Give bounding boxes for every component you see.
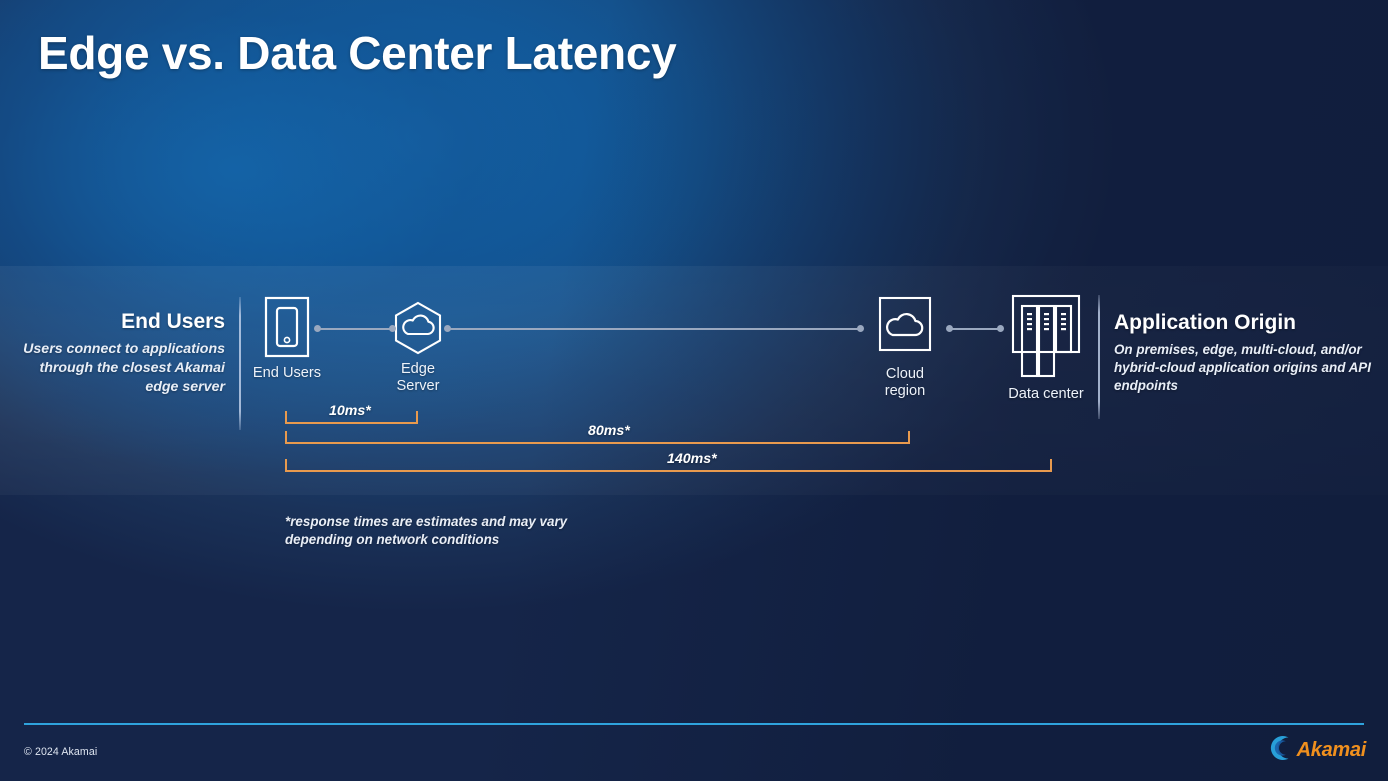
node-data-center-label: Data center <box>988 386 1104 403</box>
bracket-bar <box>285 442 910 444</box>
connector-dot-right <box>857 325 864 332</box>
bracket-tick-right <box>1050 459 1052 472</box>
connector-line <box>448 328 860 330</box>
footnote-line-1: *response times are estimates and may va… <box>285 513 567 531</box>
latency-bracket-edge: 10ms* <box>285 405 418 424</box>
connector-dot-right <box>389 325 396 332</box>
latency-label-edge: 10ms* <box>329 403 371 419</box>
connector-line <box>950 328 1000 330</box>
server-rack-icon <box>988 294 1104 382</box>
application-origin-heading: Application Origin <box>1114 311 1376 334</box>
bracket-bar <box>285 422 418 424</box>
footer-divider <box>24 723 1364 725</box>
node-edge-server-label: Edge Server <box>362 361 474 395</box>
connector-cloud-to-data-center <box>946 324 1004 333</box>
cloud-icon <box>848 296 962 358</box>
edge-server-label-line2: Server <box>397 378 440 394</box>
connector-line <box>318 328 392 330</box>
akamai-swoosh-icon <box>1269 735 1295 766</box>
application-origin-panel: Application Origin On premises, edge, mu… <box>1114 311 1376 395</box>
akamai-logo: Akamai <box>1269 735 1366 766</box>
connector-end-users-to-edge <box>314 324 396 333</box>
footnote: *response times are estimates and may va… <box>285 513 567 550</box>
node-cloud-region[interactable]: Cloud region <box>848 296 962 400</box>
cloud-region-label-line1: Cloud <box>886 366 924 382</box>
node-cloud-region-label: Cloud region <box>848 366 962 400</box>
bracket-tick-right <box>908 431 910 444</box>
latency-bracket-cloud: 80ms* <box>285 425 910 444</box>
node-edge-server[interactable]: Edge Server <box>362 300 474 395</box>
end-users-panel: End Users Users connect to applications … <box>20 310 225 397</box>
connector-edge-to-cloud <box>444 324 864 333</box>
latency-diagram: End Users Users connect to applications … <box>0 0 1388 781</box>
footnote-line-2: depending on network conditions <box>285 531 567 549</box>
application-origin-description: On premises, edge, multi-cloud, and/or h… <box>1114 341 1376 394</box>
latency-label-cloud: 80ms* <box>588 423 630 439</box>
latency-label-data-center: 140ms* <box>667 451 717 467</box>
node-end-users-label: End Users <box>228 365 346 382</box>
connector-dot-right <box>997 325 1004 332</box>
cloud-region-label-line2: region <box>885 383 926 399</box>
end-users-heading: End Users <box>20 310 225 333</box>
end-users-description: Users connect to applications through th… <box>20 340 225 397</box>
node-end-users[interactable]: End Users <box>228 296 346 382</box>
latency-bracket-data-center: 140ms* <box>285 453 1052 472</box>
page-title: Edge vs. Data Center Latency <box>38 26 676 80</box>
bracket-tick-right <box>416 411 418 424</box>
bracket-bar <box>285 470 1052 472</box>
akamai-wordmark: Akamai <box>1297 739 1366 762</box>
node-data-center[interactable]: Data center <box>988 294 1104 403</box>
copyright-text: © 2024 Akamai <box>24 746 97 758</box>
edge-server-label-line1: Edge <box>401 361 435 377</box>
